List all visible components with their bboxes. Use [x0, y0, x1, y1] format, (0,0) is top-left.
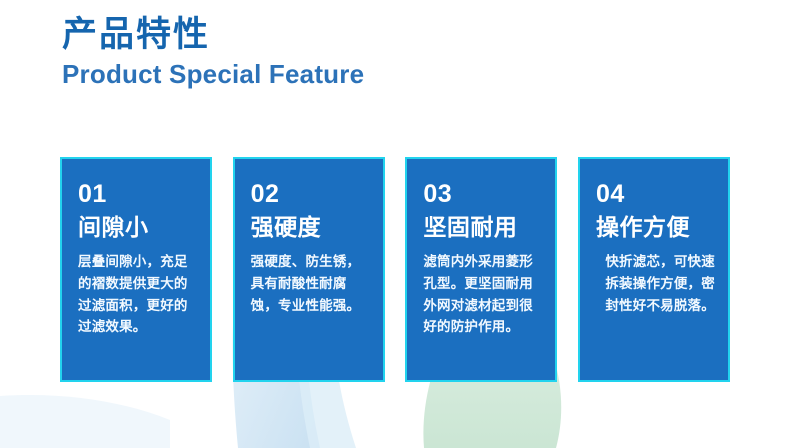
page-header: 产品特性 Product Special Feature [62, 14, 364, 91]
page-title-en: Product Special Feature [62, 58, 364, 91]
card-body-text: 快折滤芯，可快速拆装操作方便，密封性好不易脱落。 [596, 251, 715, 317]
slide-canvas: 产品特性 Product Special Feature 01 间隙小 层叠间隙… [0, 0, 790, 448]
page-title-cn: 产品特性 [62, 14, 364, 55]
decor-blue-tail [0, 395, 170, 448]
card-heading: 间隙小 [78, 214, 197, 242]
card-number: 02 [251, 181, 370, 207]
feature-card-03[interactable]: 03 坚固耐用 滤筒内外采用菱形孔型。更坚固耐用外网对滤材起到很好的防护作用。 [405, 157, 557, 382]
card-number: 04 [596, 181, 715, 207]
card-body-text: 强硬度、防生锈，具有耐酸性耐腐蚀，专业性能强。 [251, 251, 370, 317]
card-body-text: 滤筒内外采用菱形孔型。更坚固耐用外网对滤材起到很好的防护作用。 [423, 251, 542, 338]
feature-card-04[interactable]: 04 操作方便 快折滤芯，可快速拆装操作方便，密封性好不易脱落。 [578, 157, 730, 382]
feature-card-02[interactable]: 02 强硬度 强硬度、防生锈，具有耐酸性耐腐蚀，专业性能强。 [233, 157, 385, 382]
card-body-text: 层叠间隙小，充足的褶数提供更大的过滤面积，更好的过滤效果。 [78, 251, 197, 338]
card-number: 03 [423, 181, 542, 207]
card-heading: 强硬度 [251, 214, 370, 242]
feature-card-01[interactable]: 01 间隙小 层叠间隙小，充足的褶数提供更大的过滤面积，更好的过滤效果。 [60, 157, 212, 382]
feature-card-list: 01 间隙小 层叠间隙小，充足的褶数提供更大的过滤面积，更好的过滤效果。 02 … [60, 157, 730, 382]
card-heading: 操作方便 [596, 214, 715, 242]
card-number: 01 [78, 181, 197, 207]
card-heading: 坚固耐用 [423, 214, 542, 242]
